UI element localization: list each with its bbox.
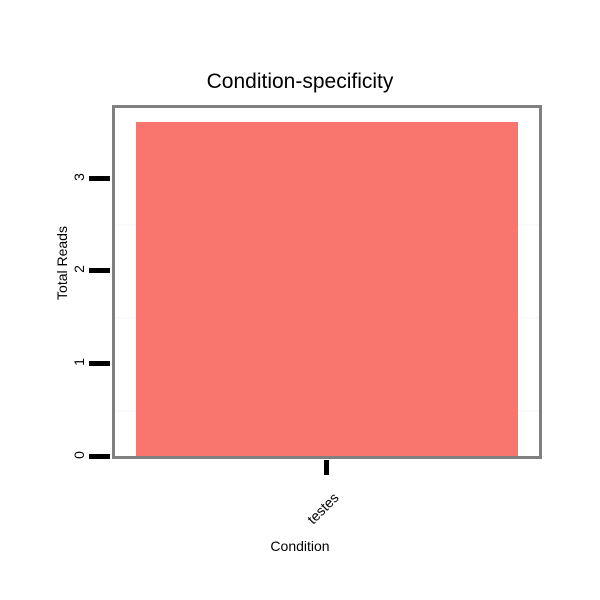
plot-area [115, 108, 539, 456]
y-axis-tick-label-0: 0 [71, 445, 87, 465]
y-axis-tick-2 [89, 268, 110, 273]
y-axis-tick-label-3: 3 [71, 167, 87, 187]
y-axis-title: Total Reads [54, 223, 70, 303]
y-axis-tick-label-1: 1 [71, 352, 87, 372]
x-axis-tick-testes [324, 460, 329, 475]
y-axis-tick-label-2: 2 [71, 259, 87, 279]
y-axis-tick-3 [89, 176, 110, 181]
bar-chart: Condition-specificity Total Reads 0 1 2 … [0, 0, 600, 600]
y-axis-tick-1 [89, 361, 110, 366]
bar-testes [136, 122, 518, 456]
y-axis-tick-0 [89, 454, 110, 459]
plot-panel [112, 105, 542, 459]
x-axis-title: Condition [0, 538, 600, 554]
chart-title: Condition-specificity [0, 70, 600, 94]
